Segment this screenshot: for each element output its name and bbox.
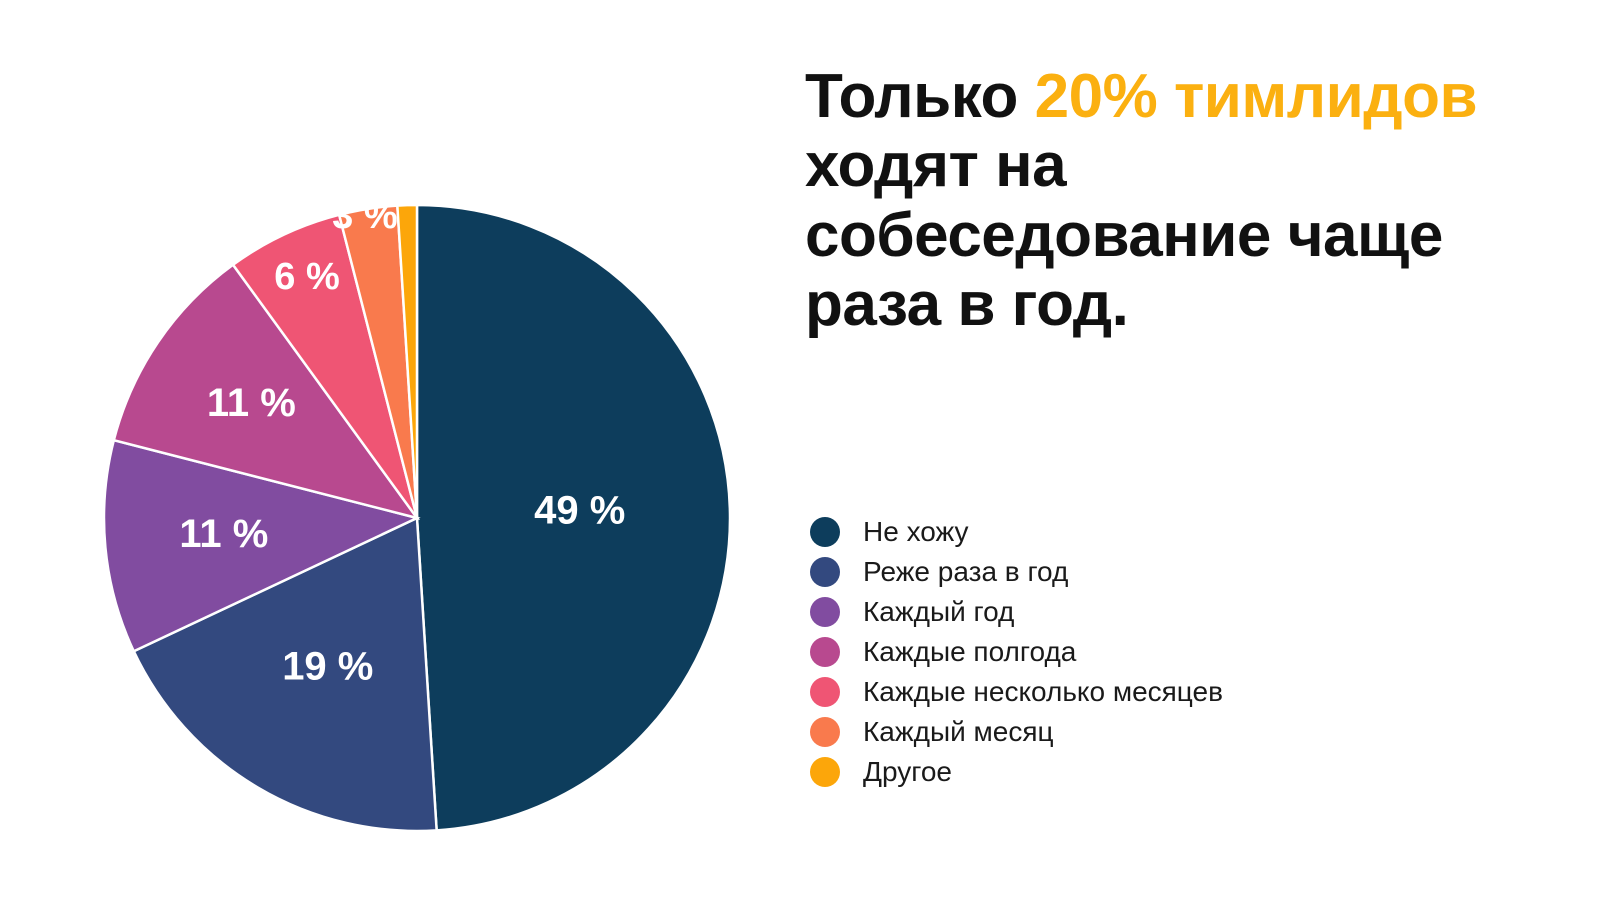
- legend-item-label: Каждый год: [863, 596, 1014, 628]
- right-panel: Только 20% тимлидов ходят на собеседован…: [805, 0, 1600, 900]
- legend-item[interactable]: Реже раза в год: [810, 552, 1570, 592]
- pie-chart-panel: 49 %19 %11 %11 %6 %3 %1 %: [0, 0, 790, 900]
- legend-item-label: Реже раза в год: [863, 556, 1068, 588]
- chart-legend: Не хожуРеже раза в годКаждый годКаждые п…: [810, 512, 1570, 792]
- pie-slice-label: 6 %: [274, 256, 339, 298]
- headline-line1-accent: 20%: [1035, 62, 1158, 131]
- pie-slice-label: 11 %: [179, 512, 268, 556]
- headline: Только 20% тимлидов ходят на собеседован…: [805, 62, 1545, 340]
- headline-line2-suffix: ходят: [805, 131, 978, 200]
- legend-color-swatch-icon: [810, 597, 840, 627]
- legend-item[interactable]: Не хожу: [810, 512, 1570, 552]
- legend-item[interactable]: Каждый месяц: [810, 712, 1570, 752]
- legend-color-swatch-icon: [810, 757, 840, 787]
- legend-color-swatch-icon: [810, 517, 840, 547]
- legend-item[interactable]: Каждые несколько месяцев: [810, 672, 1570, 712]
- pie-chart: 49 %19 %11 %11 %6 %3 %1 %: [104, 205, 730, 831]
- legend-color-swatch-icon: [810, 717, 840, 747]
- pie-slice-label: 3 %: [332, 205, 397, 237]
- pie-slice-label: 11 %: [207, 381, 296, 425]
- legend-item-label: Не хожу: [863, 516, 969, 548]
- legend-item-label: Каждые несколько месяцев: [863, 676, 1223, 708]
- legend-item-label: Каждые полгода: [863, 636, 1076, 668]
- legend-item[interactable]: Каждый год: [810, 592, 1570, 632]
- legend-item-label: Каждый месяц: [863, 716, 1054, 748]
- headline-line2-accent: тимлидов: [1174, 62, 1477, 131]
- pie-slice-label: 49 %: [534, 488, 625, 532]
- legend-color-swatch-icon: [810, 557, 840, 587]
- infographic-root: 49 %19 %11 %11 %6 %3 %1 % Только 20% тим…: [0, 0, 1600, 900]
- legend-item[interactable]: Другое: [810, 752, 1570, 792]
- legend-color-swatch-icon: [810, 677, 840, 707]
- headline-line1-prefix: Только: [805, 62, 1035, 131]
- legend-color-swatch-icon: [810, 637, 840, 667]
- pie-slice-label: 19 %: [282, 644, 373, 688]
- legend-item-label: Другое: [863, 756, 952, 788]
- legend-item[interactable]: Каждые полгода: [810, 632, 1570, 672]
